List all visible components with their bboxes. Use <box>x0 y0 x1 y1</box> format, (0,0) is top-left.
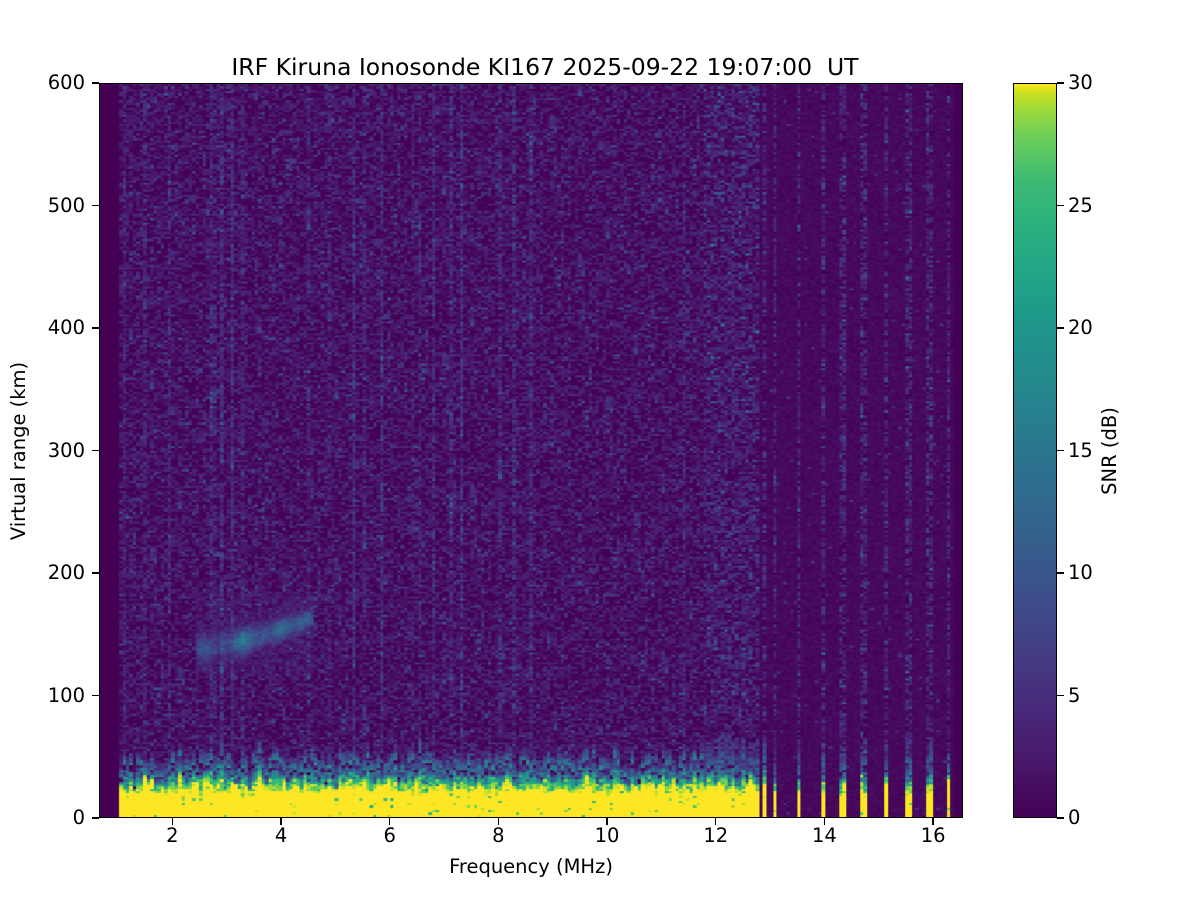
y-axis-tick-label: 0 <box>5 808 85 828</box>
x-axis-tick-label: 8 <box>468 826 528 846</box>
colorbar-tick-label: 30 <box>1068 73 1093 93</box>
colorbar-tick-label: 25 <box>1068 196 1093 216</box>
x-axis-tick-label: 6 <box>360 826 420 846</box>
colorbar-tick-mark <box>1057 327 1064 328</box>
y-axis-tick-label: 100 <box>5 686 85 706</box>
y-axis-tick-label: 200 <box>5 563 85 583</box>
ionogram-heatmap-image <box>100 84 962 817</box>
colorbar-tick-mark <box>1057 572 1064 573</box>
colorbar-tick-mark <box>1057 817 1064 818</box>
x-axis-tick-label: 16 <box>903 826 963 846</box>
colorbar-tick-mark <box>1057 205 1064 206</box>
colorbar-label: SNR (dB) <box>1098 407 1121 495</box>
y-axis-tick-label: 500 <box>5 196 85 216</box>
y-axis-tick-mark <box>92 327 99 328</box>
x-axis-tick-label: 4 <box>251 826 311 846</box>
y-axis-tick-mark <box>92 695 99 696</box>
chart-title-line-1: IRF Kiruna Ionosonde KI167 2025-09-22 19… <box>231 53 858 81</box>
colorbar-tick-label: 0 <box>1068 808 1080 828</box>
x-axis-tick-label: 12 <box>686 826 746 846</box>
colorbar-gradient <box>1014 84 1056 817</box>
colorbar-tick-label: 5 <box>1068 686 1080 706</box>
figure-canvas: IRF Kiruna Ionosonde KI167 2025-09-22 19… <box>0 0 1200 900</box>
colorbar-tick-label: 15 <box>1068 441 1093 461</box>
x-axis-tick-label: 2 <box>142 826 202 846</box>
colorbar-tick-mark <box>1057 82 1064 83</box>
ionogram-heatmap-axes[interactable] <box>99 83 963 818</box>
colorbar-tick-label: 10 <box>1068 563 1093 583</box>
y-axis-tick-label: 600 <box>5 73 85 93</box>
y-axis-tick-mark <box>92 205 99 206</box>
colorbar-tick-mark <box>1057 695 1064 696</box>
x-axis-tick-label: 14 <box>794 826 854 846</box>
y-axis-tick-label: 400 <box>5 318 85 338</box>
colorbar-tick-label: 20 <box>1068 318 1093 338</box>
x-axis-label: Frequency (MHz) <box>99 855 963 878</box>
colorbar-tick-mark <box>1057 450 1064 451</box>
y-axis-tick-mark <box>92 82 99 83</box>
colorbar[interactable] <box>1013 83 1057 818</box>
y-axis-tick-mark <box>92 572 99 573</box>
x-axis-tick-label: 10 <box>577 826 637 846</box>
y-axis-tick-mark <box>92 450 99 451</box>
y-axis-tick-mark <box>92 817 99 818</box>
y-axis-label: Virtual range (km) <box>7 361 30 539</box>
